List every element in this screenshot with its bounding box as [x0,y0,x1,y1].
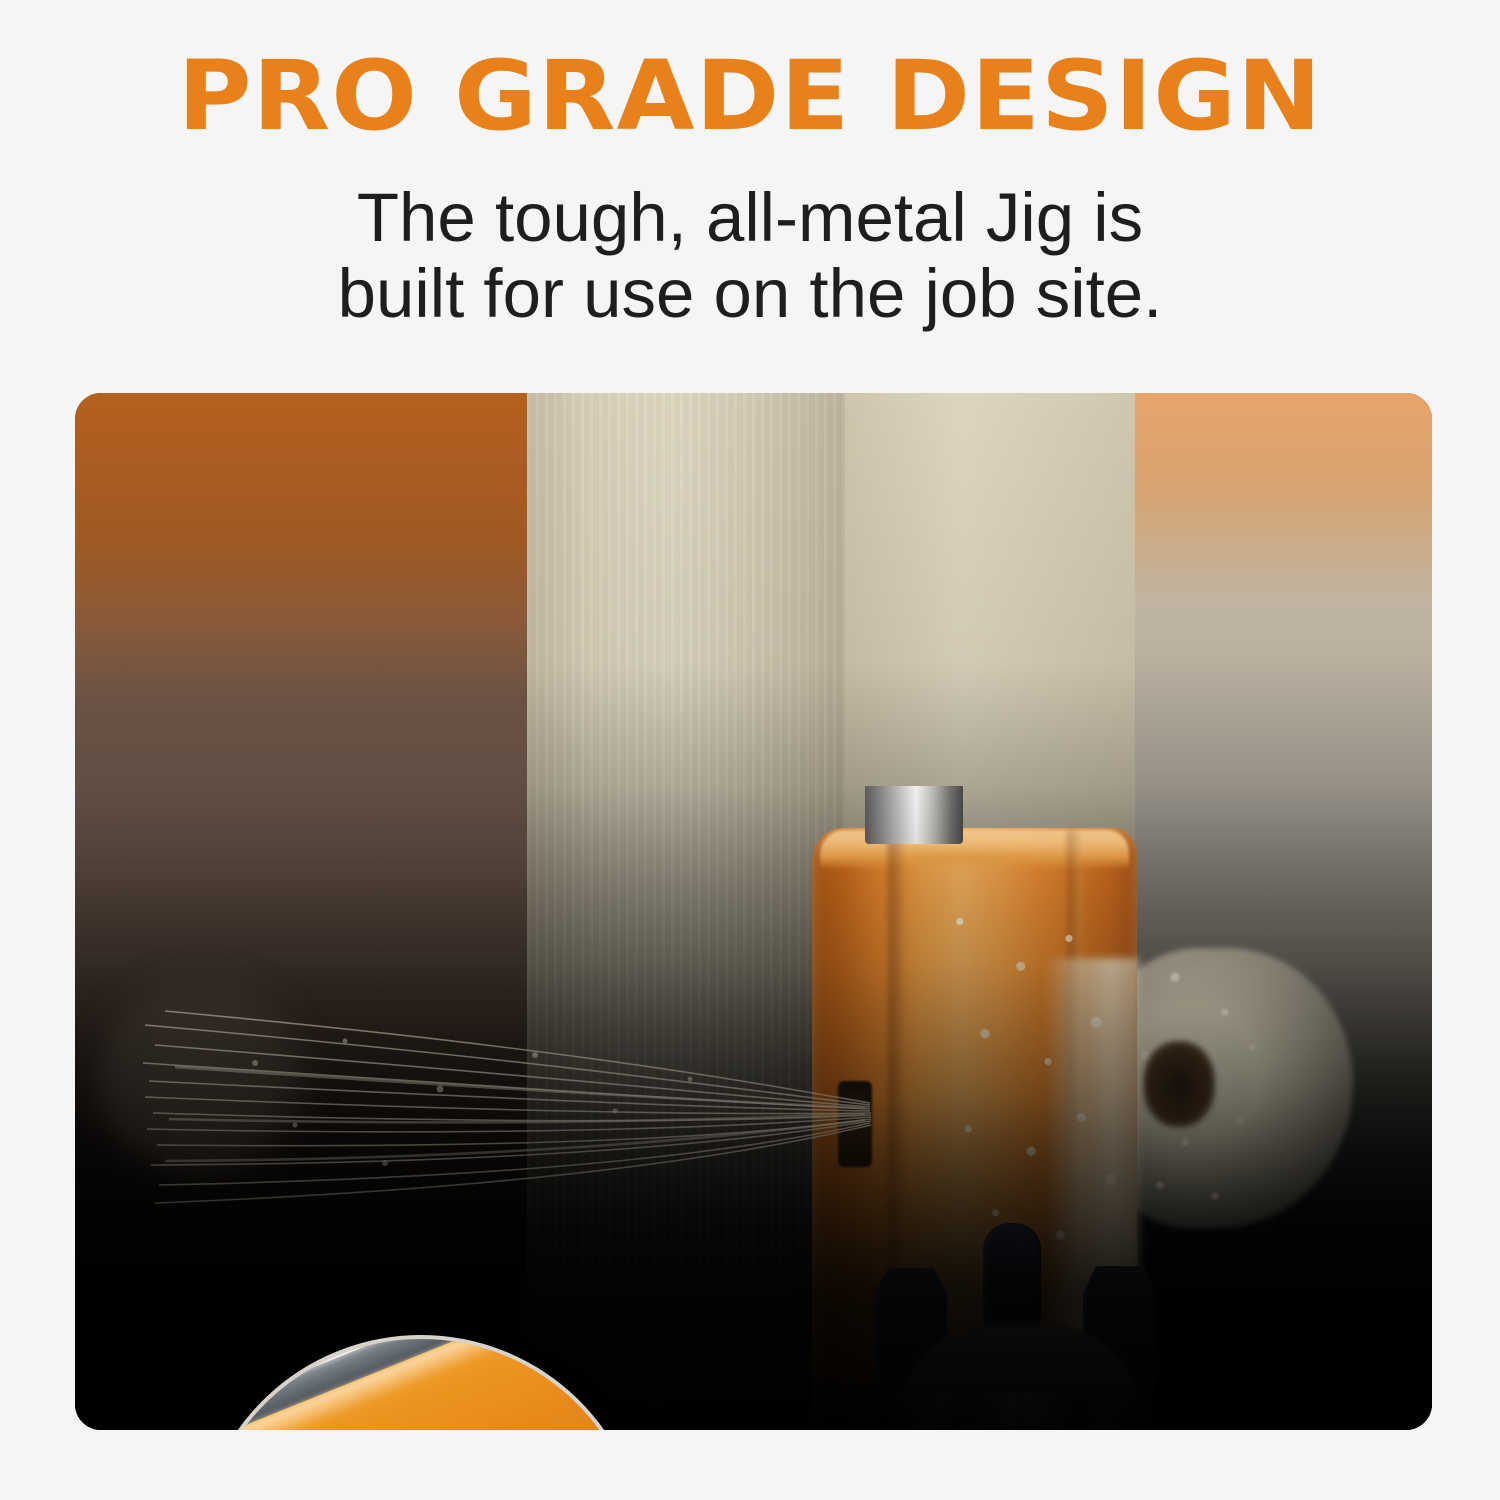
product-feature-card: PRO GRADE DESIGN The tough, all-metal Ji… [0,0,1500,1500]
background-left-panel [75,393,535,1430]
page-title: PRO GRADE DESIGN [0,48,1500,144]
background-right-panel [1135,393,1432,1430]
drill-bit-body [893,1393,1149,1430]
wood-grain-texture [527,393,845,1430]
drilled-exit-hole [1143,1041,1215,1127]
dust-port-slot [838,1081,872,1167]
subtitle-line-2: built for use on the job site. [0,256,1500,332]
non-slip-pad-closeup-inset [197,1335,645,1430]
steel-drill-bushing [865,786,963,844]
wood-board-center [527,393,845,1430]
subtitle: The tough, all-metal Jig is built for us… [0,180,1500,332]
blurred-hole-shape [97,978,307,1178]
subtitle-line-1: The tough, all-metal Jig is [357,179,1143,256]
bit-flute-2 [1019,1393,1025,1430]
inset-content [197,1335,645,1430]
product-photo: Non-slip pads protect wood & keep jig in… [75,393,1432,1430]
bit-flute-1 [953,1393,959,1430]
bit-flute-3 [1083,1393,1089,1430]
